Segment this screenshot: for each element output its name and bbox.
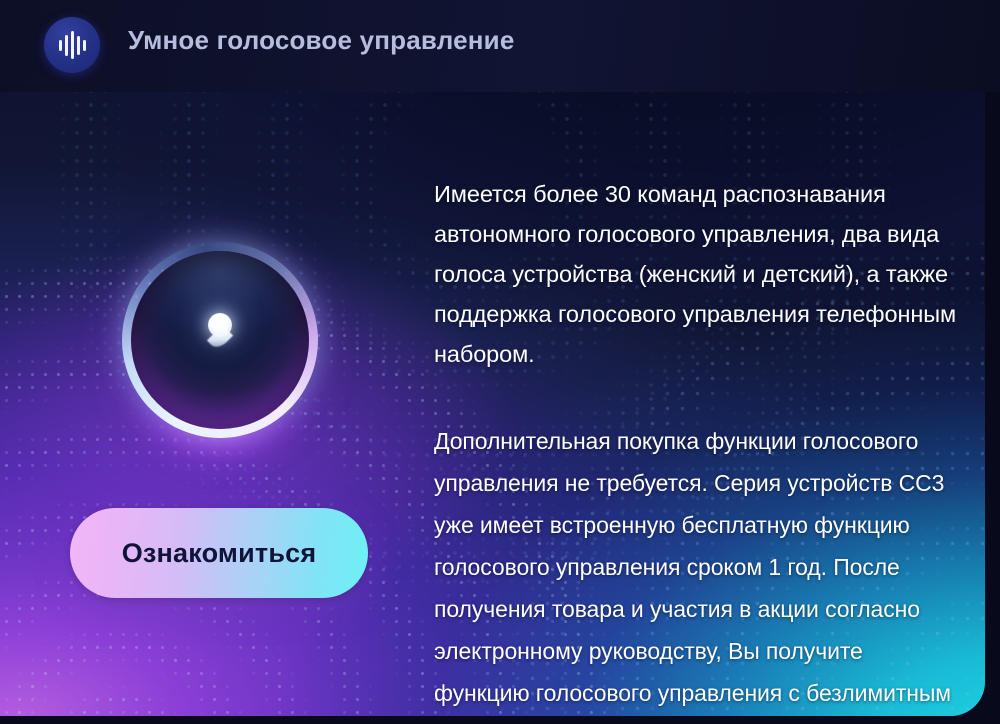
voice-control-promo-screen: Ознакомиться Имеется более 30 команд рас… xyxy=(0,0,1000,724)
page-header: Умное голосовое управление xyxy=(0,0,1000,92)
waveform-bar-4 xyxy=(77,36,80,55)
paragraph-free-license: Дополнительная покупка функции голосовог… xyxy=(434,420,964,716)
waveform-bar-1 xyxy=(59,40,62,51)
content-card: Ознакомиться Имеется более 30 команд рас… xyxy=(0,56,985,716)
waveform-bar-5 xyxy=(83,40,86,51)
learn-more-button[interactable]: Ознакомиться xyxy=(70,508,368,598)
paragraph-voice-commands: Имеется более 30 команд распознавания ав… xyxy=(434,174,964,374)
voice-assistant-orb xyxy=(122,242,318,438)
waveform-bar-3 xyxy=(71,31,74,59)
page-title: Умное голосовое управление xyxy=(128,25,515,56)
waveform-bar-2 xyxy=(65,35,68,56)
voice-waveform-icon xyxy=(44,17,100,73)
description-text-block: Имеется более 30 команд распознавания ав… xyxy=(434,174,964,716)
location-pin-glow-icon xyxy=(205,313,235,351)
